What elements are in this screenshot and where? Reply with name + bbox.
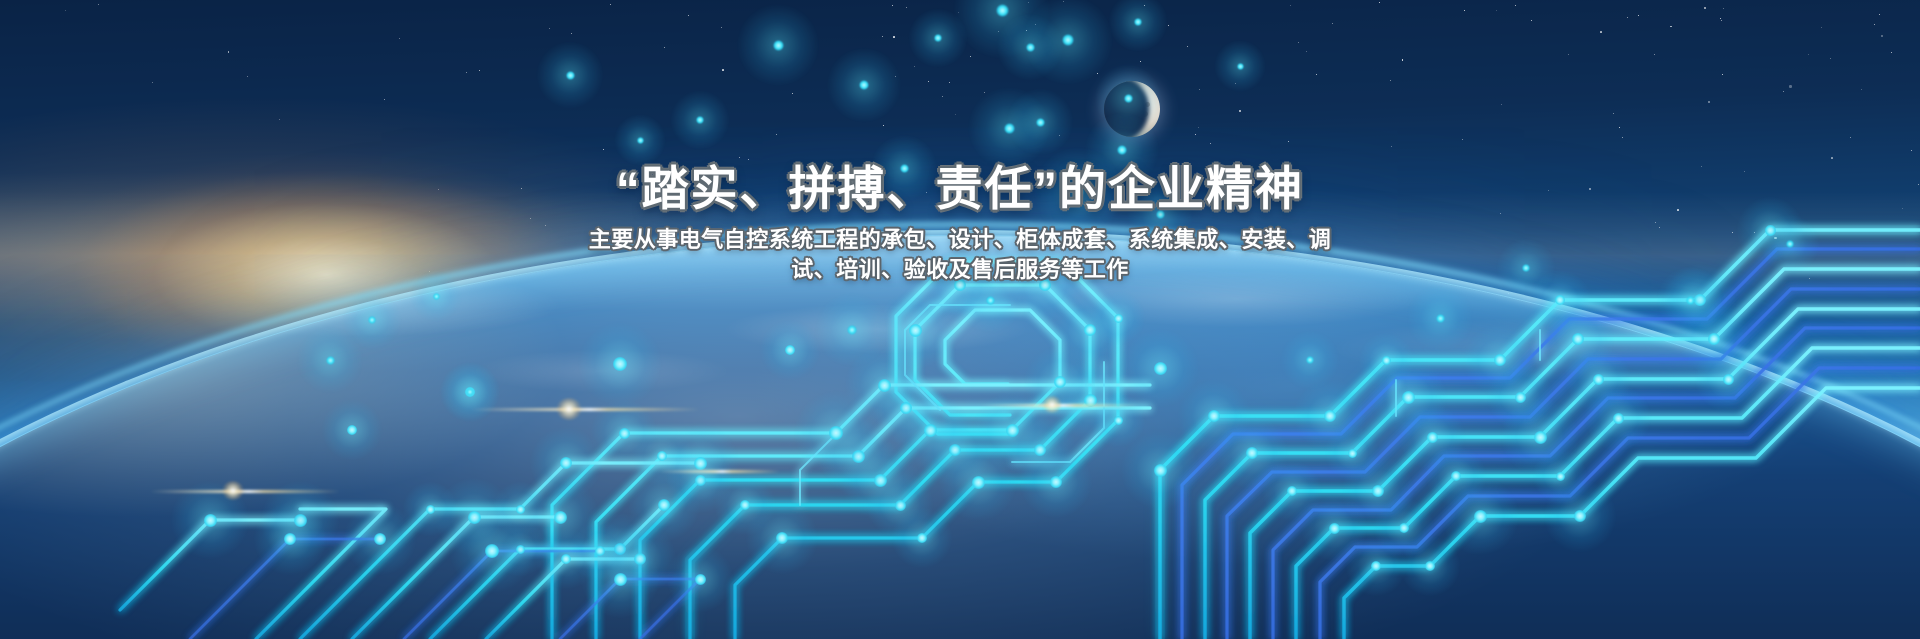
subtitle-line-2: 试、培训、验收及售后服务等工作 [0,252,1920,284]
hero-banner: “踏实、拼搏、责任”的企业精神 主要从事电气自控系统工程的承包、设计、柜体成套、… [0,0,1920,639]
subtitle-line-1: 主要从事电气自控系统工程的承包、设计、柜体成套、系统集成、安装、调 [0,222,1920,254]
page-title: “踏实、拼搏、责任”的企业精神 [0,150,1920,219]
lens-flares [0,0,1920,639]
